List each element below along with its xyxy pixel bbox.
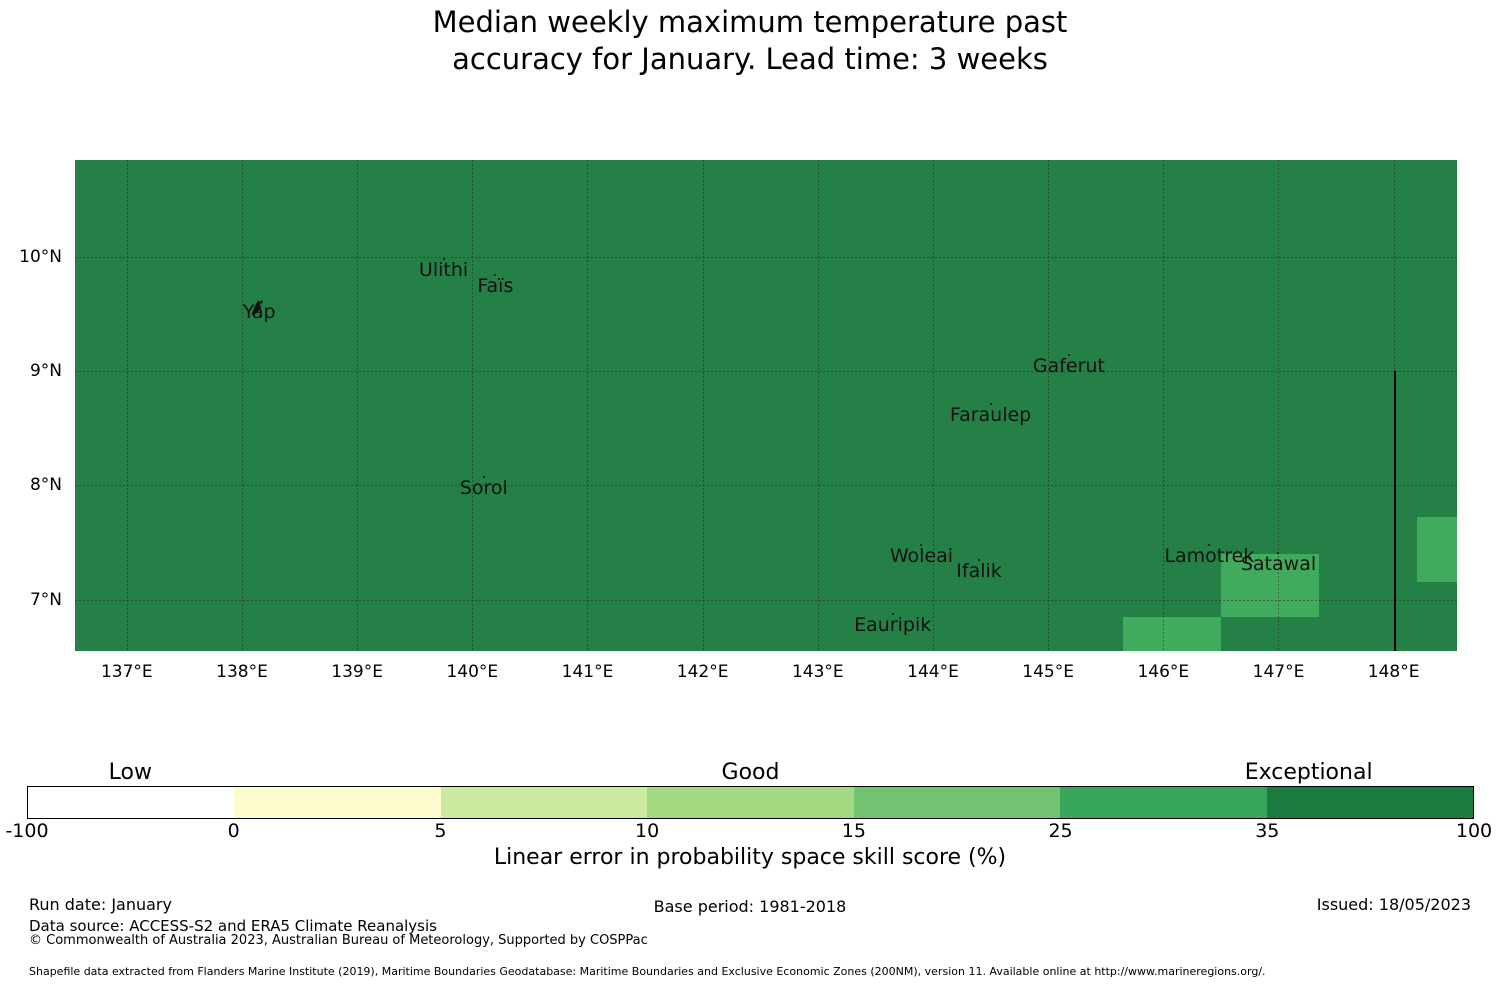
colorbar-segment--100-to-0 xyxy=(28,787,234,818)
island-marker-sorol xyxy=(483,476,485,478)
xtick-label: 145°E xyxy=(1022,662,1074,682)
xtick-label: 140°E xyxy=(446,662,498,682)
xtick-label: 146°E xyxy=(1137,662,1189,682)
gridline-horizontal xyxy=(75,600,1457,601)
colorbar-segment-10-to-15 xyxy=(647,787,853,818)
island-marker-eauripik xyxy=(892,613,894,615)
xtick-label: 143°E xyxy=(792,662,844,682)
gridline-vertical xyxy=(1048,160,1049,651)
colorbar-segment-0-to-5 xyxy=(234,787,440,818)
island-label-fas: Faïs xyxy=(477,275,513,297)
colorbar-tick-label: 15 xyxy=(842,820,866,842)
colorbar[interactable] xyxy=(27,786,1474,819)
island-label-eauripik: Eauripik xyxy=(854,614,931,636)
island-label-satawal: Satawal xyxy=(1241,553,1316,575)
gridline-vertical xyxy=(703,160,704,651)
colorbar-tick-label: 5 xyxy=(434,820,446,842)
colorbar-category-low: Low xyxy=(109,760,152,785)
colorbar-tick-label: 35 xyxy=(1255,820,1279,842)
gridline-horizontal xyxy=(75,371,1457,372)
colorbar-category-exceptional: Exceptional xyxy=(1245,760,1373,785)
xtick-label: 148°E xyxy=(1368,662,1420,682)
colorbar-segment-25-to-35 xyxy=(1060,787,1266,818)
gridline-vertical xyxy=(357,160,358,651)
footer-copyright: © Commonwealth of Australia 2023, Austra… xyxy=(29,933,648,948)
colorbar-tick-label: -100 xyxy=(5,820,48,842)
island-label-ifalik: Ifalik xyxy=(956,560,1002,582)
gridline-vertical xyxy=(587,160,588,651)
island-marker-ulithi xyxy=(443,258,445,260)
footer-base-period: Base period: 1981-2018 xyxy=(0,897,1500,916)
island-label-gaferut: Gaferut xyxy=(1033,355,1105,377)
gridline-vertical xyxy=(1163,160,1164,651)
footer-shapefile-credit: Shapefile data extracted from Flanders M… xyxy=(29,965,1266,978)
island-label-yap: Yap xyxy=(243,301,276,323)
colorbar-segment-35-to-100 xyxy=(1267,787,1473,818)
gridline-vertical xyxy=(472,160,473,651)
footer-issued-date: Issued: 18/05/2023 xyxy=(1317,895,1471,914)
ytick-label: 7°N xyxy=(30,590,62,610)
xtick-label: 137°E xyxy=(101,662,153,682)
colorbar-segment-5-to-10 xyxy=(441,787,647,818)
gridline-vertical xyxy=(127,160,128,651)
east-cell xyxy=(1417,517,1457,582)
island-marker-faraulep xyxy=(990,403,992,405)
gridline-vertical xyxy=(933,160,934,651)
colorbar-tick-label: 10 xyxy=(635,820,659,842)
gridline-horizontal xyxy=(75,257,1457,258)
colorbar-category-good: Good xyxy=(722,760,780,785)
ytick-label: 8°N xyxy=(30,475,62,495)
island-label-woleai: Woleai xyxy=(890,545,953,567)
gridline-vertical xyxy=(242,160,243,651)
gridline-vertical xyxy=(1278,160,1279,651)
xtick-label: 139°E xyxy=(331,662,383,682)
colorbar-tick-label: 25 xyxy=(1048,820,1072,842)
colorbar-segment-15-to-25 xyxy=(854,787,1060,818)
island-marker-gaferut xyxy=(1068,354,1070,356)
island-label-ulithi: Ulithi xyxy=(419,259,468,281)
xtick-label: 141°E xyxy=(562,662,614,682)
colorbar-tick-label: 100 xyxy=(1456,820,1492,842)
page-title: Median weekly maximum temperature past a… xyxy=(0,4,1500,78)
colorbar-tick-label: 0 xyxy=(228,820,240,842)
xtick-label: 144°E xyxy=(907,662,959,682)
island-label-faraulep: Faraulep xyxy=(950,404,1031,426)
xtick-label: 147°E xyxy=(1253,662,1305,682)
eez-boundary-line xyxy=(1394,371,1396,651)
gridline-horizontal xyxy=(75,485,1457,486)
ytick-label: 10°N xyxy=(19,247,62,267)
map-plot-area[interactable]: YapUlithiFaïsSorolGaferutFaraulepWoleaiI… xyxy=(75,160,1457,651)
island-label-sorol: Sorol xyxy=(460,477,508,499)
colorbar-axis-label: Linear error in probability space skill … xyxy=(0,845,1500,870)
gridline-vertical xyxy=(818,160,819,651)
xtick-label: 138°E xyxy=(216,662,268,682)
xtick-label: 142°E xyxy=(677,662,729,682)
lamotrek-cell xyxy=(1123,617,1221,651)
ytick-label: 9°N xyxy=(30,361,62,381)
